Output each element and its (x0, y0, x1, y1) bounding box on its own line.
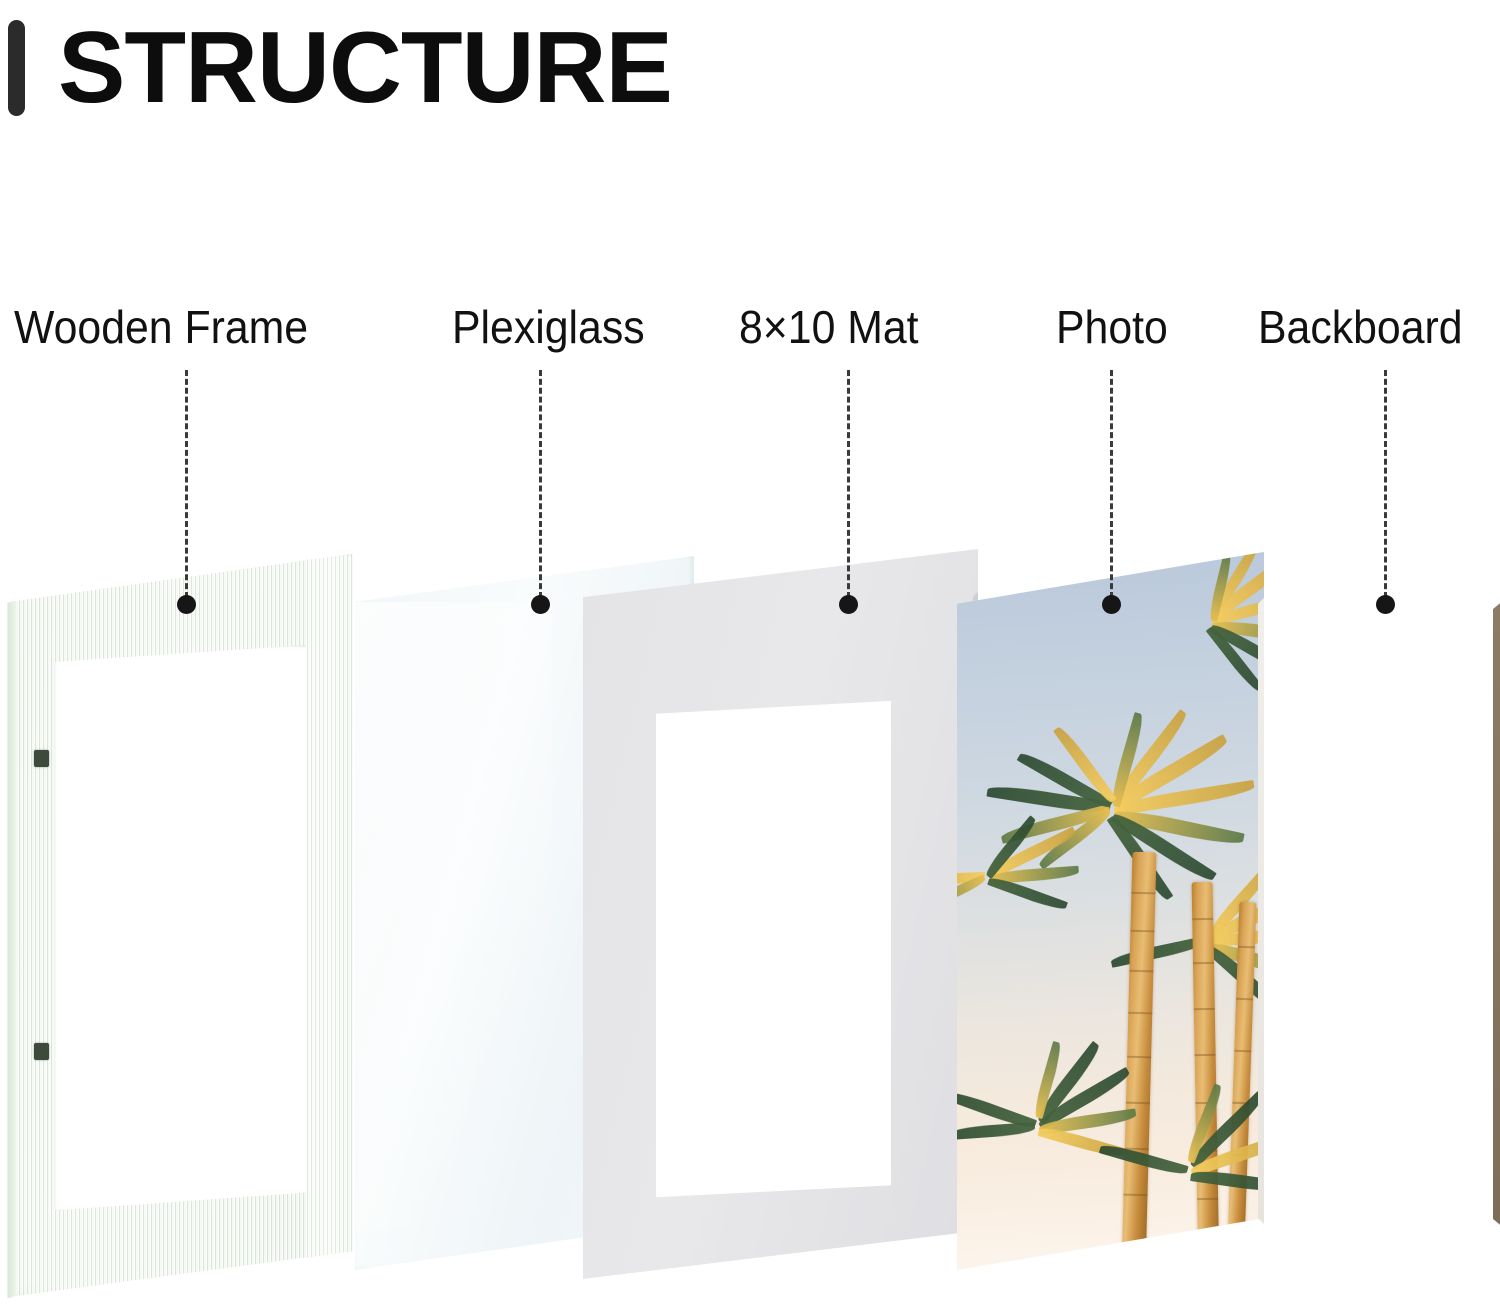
palm-understory-right (1127, 1072, 1264, 1270)
palm-understory-left (967, 1022, 1147, 1252)
frame-clip-upper (34, 750, 49, 767)
leader-line-backboard (1384, 370, 1387, 598)
palm-crown-left (957, 804, 1077, 974)
backboard-right-edge (1493, 556, 1500, 1272)
leader-line-photo (1110, 370, 1113, 598)
leader-dot-photo (1102, 595, 1121, 614)
photo-print (957, 552, 1264, 1270)
layer-backboard (1262, 556, 1500, 1272)
plexiglass-gloss-highlight (355, 602, 552, 1230)
page-title-text: STRUCTURE (58, 18, 672, 119)
frame-clip-lower (34, 1043, 49, 1060)
structure-infographic: STRUCTURE Wooden Frame Plexiglass 8×10 M… (0, 0, 1500, 1315)
label-wooden-frame: Wooden Frame (14, 303, 308, 351)
leader-line-wooden-frame (185, 370, 188, 598)
layer-wooden-frame (6, 548, 354, 1300)
mat-window-opening (656, 701, 891, 1197)
leader-dot-wooden-frame (177, 595, 196, 614)
label-photo: Photo (1056, 303, 1168, 351)
leader-dot-plexiglass (531, 595, 550, 614)
page-title: STRUCTURE (0, 14, 672, 122)
leader-line-mat (847, 370, 850, 598)
label-mat: 8×10 Mat (739, 303, 919, 351)
frame-inner-opening (53, 645, 310, 1211)
layer-photo (957, 552, 1264, 1270)
layer-mat (583, 549, 978, 1279)
label-backboard: Backboard (1258, 303, 1463, 351)
frame-left-side-edge (7, 601, 16, 1299)
leader-line-plexiglass (539, 370, 542, 598)
title-accent-bar (8, 20, 25, 116)
label-plexiglass: Plexiglass (452, 303, 645, 351)
backboard-face (1262, 556, 1500, 1272)
leader-dot-backboard (1376, 595, 1395, 614)
leader-dot-mat (839, 595, 858, 614)
frame-right-rail (306, 556, 352, 1258)
